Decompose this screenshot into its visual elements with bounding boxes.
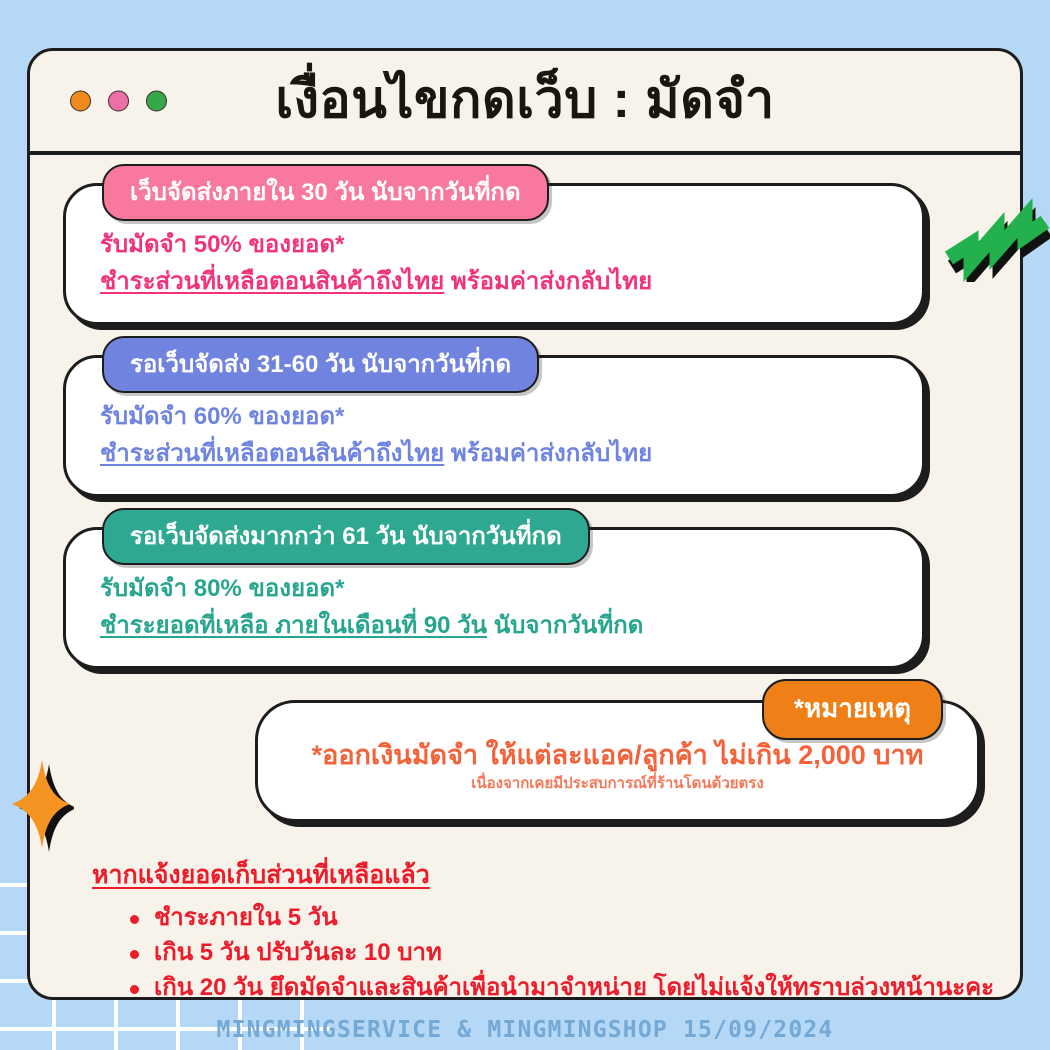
condition-line-2a: รับมัดจำ 60% ของยอด* <box>100 398 888 435</box>
condition-payment-link-2: ชำระส่วนที่เหลือตอนสินค้าถึงไทย <box>100 440 444 467</box>
condition-deposit-text-1: รับมัดจำ 50% ของยอด* <box>100 231 344 258</box>
condition-line-2b: ชำระส่วนที่เหลือตอนสินค้าถึงไทย พร้อมค่า… <box>100 435 888 472</box>
note-card: *หมายเหตุ *ออกเงินมัดจำ ให้แต่ละแอค/ลูกค… <box>255 700 980 822</box>
window-body: เว็บจัดส่งภายใน 30 วัน นับจากวันที่กด รั… <box>30 155 1020 999</box>
footnote-list: ชำระภายใน 5 วัน เกิน 5 วัน ปรับวันละ 10 … <box>92 901 972 1005</box>
condition-payment-link-1: ชำระส่วนที่เหลือตอนสินค้าถึงไทย <box>100 268 444 295</box>
list-item: เกิน 5 วัน ปรับวันละ 10 บาท <box>128 936 972 971</box>
condition-payment-link-3: ชำระยอดที่เหลือ ภายในเดือนที่ 90 วัน <box>100 612 487 639</box>
condition-deposit-text-2: รับมัดจำ 60% ของยอด* <box>100 403 344 430</box>
condition-block-3: รอเว็บจัดส่งมากกว่า 61 วัน นับจากวันที่ก… <box>63 527 925 669</box>
note-main-text: *ออกเงินมัดจำ ให้แต่ละแอค/ลูกค้า ไม่เกิน… <box>288 739 947 771</box>
condition-block-1: เว็บจัดส่งภายใน 30 วัน นับจากวันที่กด รั… <box>63 183 925 325</box>
condition-tab-1: เว็บจัดส่งภายใน 30 วัน นับจากวันที่กด <box>102 164 549 221</box>
condition-card-3: รอเว็บจัดส่งมากกว่า 61 วัน นับจากวันที่ก… <box>63 527 925 669</box>
condition-card-1: เว็บจัดส่งภายใน 30 วัน นับจากวันที่กด รั… <box>63 183 925 325</box>
condition-line-1a: รับมัดจำ 50% ของยอด* <box>100 226 888 263</box>
condition-payment-rest-2: พร้อมค่าส่งกลับไทย <box>444 440 652 467</box>
list-item: เกิน 20 วัน ยึดมัดจำและสินค้าเพื่อนำมาจำ… <box>128 971 972 1006</box>
condition-line-3b: ชำระยอดที่เหลือ ภายในเดือนที่ 90 วัน นับ… <box>100 607 888 644</box>
list-item: ชำระภายใน 5 วัน <box>128 901 972 936</box>
note-block: *หมายเหตุ *ออกเงินมัดจำ ให้แต่ละแอค/ลูกค… <box>255 700 980 822</box>
page-title: เงื่อนไขกดเว็บ : มัดจำ <box>30 74 1020 126</box>
footnote-section: หากแจ้งยอดเก็บส่วนที่เหลือแล้ว ชำระภายใน… <box>92 855 972 1005</box>
condition-tab-3: รอเว็บจัดส่งมากกว่า 61 วัน นับจากวันที่ก… <box>102 508 590 565</box>
window-frame: เงื่อนไขกดเว็บ : มัดจำ เว็บจัดส่งภายใน 3… <box>27 48 1023 1000</box>
condition-payment-rest-1: พร้อมค่าส่งกลับไทย <box>444 268 652 295</box>
footer-credit: MINGMINGSERVICE & MINGMINGSHOP 15/09/202… <box>0 1017 1050 1043</box>
condition-line-1b: ชำระส่วนที่เหลือตอนสินค้าถึงไทย พร้อมค่า… <box>100 263 888 300</box>
note-tab: *หมายเหตุ <box>762 679 943 740</box>
condition-payment-rest-3: นับจากวันที่กด <box>487 612 643 639</box>
condition-block-2: รอเว็บจัดส่ง 31-60 วัน นับจากวันที่กด รั… <box>63 355 925 497</box>
condition-line-3a: รับมัดจำ 80% ของยอด* <box>100 570 888 607</box>
condition-deposit-text-3: รับมัดจำ 80% ของยอด* <box>100 575 344 602</box>
note-sub-text: เนื่องจากเคยมีประสบการณ์ที่ร้านโดนด้วยตร… <box>288 775 947 793</box>
window-titlebar: เงื่อนไขกดเว็บ : มัดจำ <box>30 51 1020 155</box>
condition-card-2: รอเว็บจัดส่ง 31-60 วัน นับจากวันที่กด รั… <box>63 355 925 497</box>
footnote-title: หากแจ้งยอดเก็บส่วนที่เหลือแล้ว <box>92 855 972 895</box>
condition-tab-2: รอเว็บจัดส่ง 31-60 วัน นับจากวันที่กด <box>102 336 539 393</box>
